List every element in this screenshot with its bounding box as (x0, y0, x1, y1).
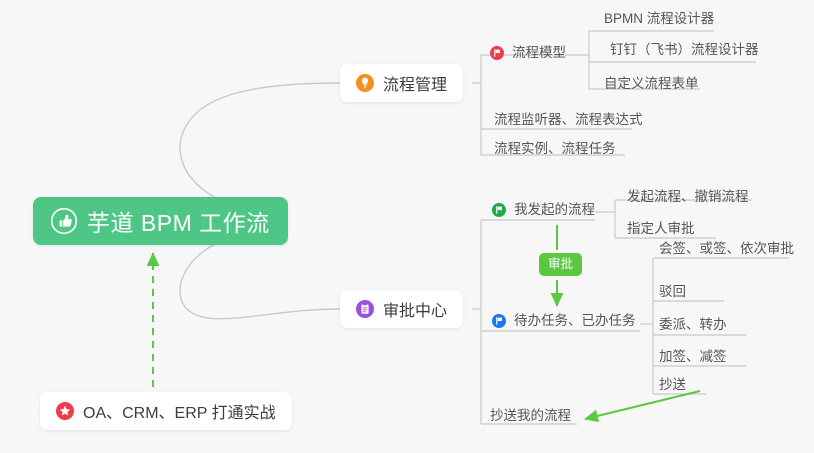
leaf-bpmn-designer[interactable]: BPMN 流程设计器 (604, 12, 714, 32)
node-my-initiated[interactable]: 我发起的流程 (492, 203, 595, 223)
branch-approval-center[interactable]: 审批中心 (340, 290, 463, 328)
flag-icon (492, 203, 506, 217)
node-integration-practice[interactable]: OA、CRM、ERP 打通实战 (40, 392, 292, 430)
clipboard-icon (356, 300, 374, 318)
lightbulb-icon (356, 74, 374, 92)
leaf-dingtalk-feishu-designer[interactable]: 钉钉（飞书）流程设计器 (610, 43, 759, 63)
leaf-dingtalk-feishu-designer-label: 钉钉（飞书）流程设计器 (610, 42, 759, 57)
branch-approval-center-label: 审批中心 (383, 297, 447, 321)
node-integration-practice-label: OA、CRM、ERP 打通实战 (83, 399, 276, 423)
flag-icon (492, 314, 506, 328)
leaf-reject-label: 驳回 (659, 284, 686, 299)
node-process-model-label: 流程模型 (512, 46, 566, 60)
leaf-listener-expression-label: 流程监听器、流程表达式 (494, 112, 643, 127)
mindmap-canvas: 芋道 BPM 工作流 流程管理 流程模型 BPMN 流程设计器 钉钉（飞书）流程 (0, 0, 814, 453)
leaf-custom-form-label: 自定义流程表单 (604, 76, 699, 91)
wire-root-to-process-management (180, 83, 340, 213)
flag-icon (490, 46, 504, 60)
approval-badge-label: 审批 (548, 257, 573, 271)
leaf-cc[interactable]: 抄送 (659, 378, 686, 398)
approval-badge: 审批 (539, 253, 582, 276)
node-process-model[interactable]: 流程模型 (490, 46, 566, 66)
leaf-listener-expression[interactable]: 流程监听器、流程表达式 (494, 113, 643, 133)
leaf-delegate-transfer[interactable]: 委派、转办 (659, 318, 727, 338)
leaf-add-remove-sign-label: 加签、减签 (659, 349, 727, 364)
leaf-reject[interactable]: 驳回 (659, 285, 686, 305)
root-node[interactable]: 芋道 BPM 工作流 (33, 197, 288, 245)
branch-process-management[interactable]: 流程管理 (340, 64, 463, 102)
leaf-assignee-approval-label: 指定人审批 (627, 221, 695, 236)
leaf-bpmn-designer-label: BPMN 流程设计器 (604, 11, 714, 26)
leaf-instance-task-label: 流程实例、流程任务 (494, 141, 616, 156)
leaf-countersign[interactable]: 会签、或签、依次审批 (659, 242, 794, 262)
leaf-delegate-transfer-label: 委派、转办 (659, 317, 727, 332)
branch-process-management-label: 流程管理 (383, 71, 447, 95)
leaf-instance-task[interactable]: 流程实例、流程任务 (494, 142, 616, 162)
leaf-cc-label: 抄送 (659, 377, 686, 392)
thumbs-up-icon (51, 208, 77, 234)
node-cc-to-me-label: 抄送我的流程 (490, 408, 571, 423)
leaf-add-remove-sign[interactable]: 加签、减签 (659, 350, 727, 370)
node-my-initiated-label: 我发起的流程 (514, 203, 595, 217)
leaf-start-cancel-process-label: 发起流程、撤销流程 (627, 189, 749, 204)
node-todo-done-tasks-label: 待办任务、已办任务 (514, 314, 636, 328)
star-icon (56, 402, 74, 420)
node-cc-to-me[interactable]: 抄送我的流程 (490, 409, 571, 429)
leaf-countersign-label: 会签、或签、依次审批 (659, 241, 794, 256)
leaf-custom-form[interactable]: 自定义流程表单 (604, 77, 699, 97)
leaf-start-cancel-process[interactable]: 发起流程、撤销流程 (627, 190, 749, 210)
leaf-assignee-approval[interactable]: 指定人审批 (627, 222, 695, 242)
node-todo-done-tasks[interactable]: 待办任务、已办任务 (492, 314, 636, 334)
root-label: 芋道 BPM 工作流 (87, 204, 270, 238)
